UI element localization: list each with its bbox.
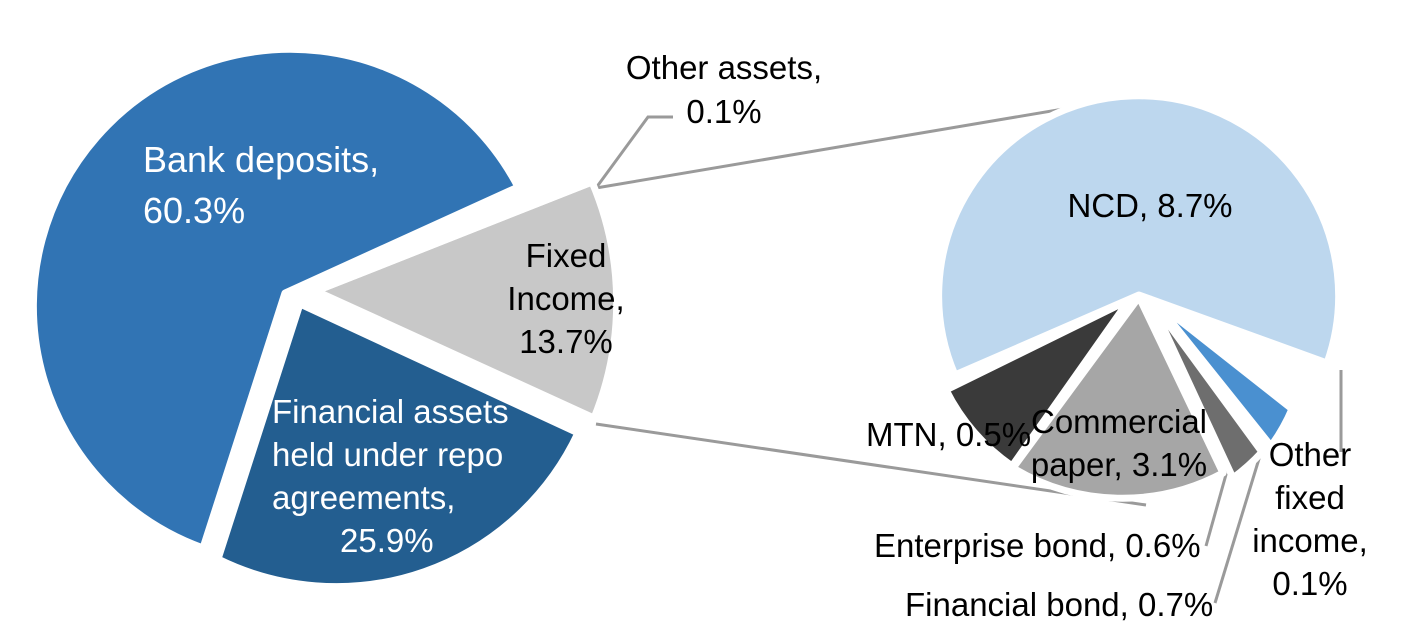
label-commercial-paper-line2: paper, 3.1% [1031,446,1207,483]
label-other-fixed-income-line2: fixed [1275,479,1345,516]
label-repo-line4: 25.9% [340,522,434,559]
chart-canvas: Bank deposits, 60.3% Financial assets he… [0,0,1404,644]
pie-of-pie-chart: Bank deposits, 60.3% Financial assets he… [0,0,1404,644]
label-other-fixed-income-line3: income, [1252,522,1368,559]
label-mtn: MTN, 0.5% [866,416,1031,453]
label-other-fixed-income-line4: 0.1% [1272,565,1347,602]
label-fixed-income-line2: Income, [507,280,624,317]
label-ncd-line1: NCD, 8.7% [1067,187,1232,224]
label-other-fixed-income: Other fixed income, 0.1% [1252,436,1368,602]
label-financial-bond: Financial bond, 0.7% [905,586,1213,623]
label-enterprise-bond-line1: Enterprise bond, 0.6% [874,527,1201,564]
label-commercial-paper-line1: Commercial [1031,403,1207,440]
label-fixed-income-line1: Fixed [526,237,607,274]
label-other-fixed-income-line1: Other [1269,436,1352,473]
label-other-assets-line2: 0.1% [686,93,761,130]
label-repo-line1: Financial assets [272,393,509,430]
label-bank-deposits-line2: 60.3% [143,190,245,231]
label-repo-line3: agreements, [272,479,455,516]
label-repo-line2: held under repo [272,436,503,473]
label-mtn-line1: MTN, 0.5% [866,416,1031,453]
label-fixed-income-line3: 13.7% [519,323,613,360]
label-ncd: NCD, 8.7% [1067,187,1232,224]
label-enterprise-bond: Enterprise bond, 0.6% [874,527,1201,564]
label-bank-deposits-line1: Bank deposits, [143,139,379,180]
label-other-assets-line1: Other assets, [626,49,822,86]
label-financial-bond-line1: Financial bond, 0.7% [905,586,1213,623]
